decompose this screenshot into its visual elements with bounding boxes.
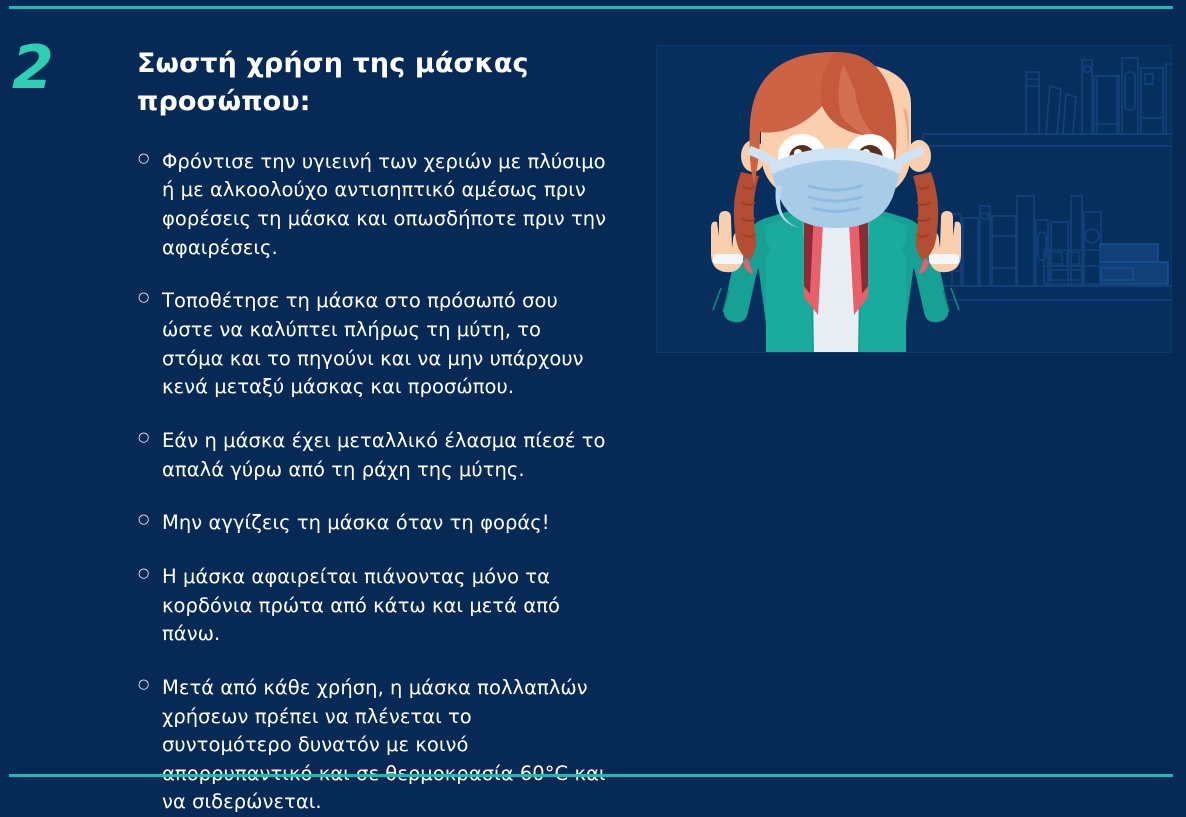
list-item-text: Εάν η μάσκα έχει μεταλλικό έλασμα πίεσέ … <box>162 429 605 481</box>
bottom-accent-rule <box>9 774 1173 777</box>
list-item: ○ Τοποθέτησε τη μάσκα στο πρόσωπό σου ώσ… <box>137 287 607 402</box>
girl-wearing-face-mask-illustration <box>657 46 1172 353</box>
list-item: ○ Η μάσκα αφαιρείται πιάνοντας μόνο τα κ… <box>137 563 607 649</box>
list-item: ○ Εάν η μάσκα έχει μεταλλικό έλασμα πίεσ… <box>137 427 607 484</box>
list-item-text: Μην αγγίζεις τη μάσκα όταν τη φοράς! <box>162 511 550 534</box>
text-column: Σωστή χρήση της μάσκας προσώπου: ○ Φρόντ… <box>137 45 607 817</box>
bullet-circle-icon: ○ <box>138 287 149 308</box>
list-item-text: Μετά από κάθε χρήση, η μάσκα πολλαπλών χ… <box>162 676 606 814</box>
step-number: 2 <box>12 38 53 98</box>
bullet-circle-icon: ○ <box>138 148 149 169</box>
list-item-text: Τοποθέτησε τη μάσκα στο πρόσωπό σου ώστε… <box>162 289 584 398</box>
top-accent-rule <box>9 6 1173 9</box>
list-item: ○ Φρόντισε την υγιεινή των χεριών με πλύ… <box>137 148 607 263</box>
instruction-list: ○ Φρόντισε την υγιεινή των χεριών με πλύ… <box>137 148 607 817</box>
page-title: Σωστή χρήση της μάσκας προσώπου: <box>137 45 607 122</box>
list-item-text: Φρόντισε την υγιεινή των χεριών με πλύσι… <box>162 150 606 259</box>
bullet-circle-icon: ○ <box>138 427 149 448</box>
bullet-circle-icon: ○ <box>138 674 149 695</box>
slide-root: 2 Σωστή χρήση της μάσκας προσώπου: ○ Φρό… <box>0 0 1186 785</box>
bullet-circle-icon: ○ <box>138 563 149 584</box>
list-item: ○ Μετά από κάθε χρήση, η μάσκα πολλαπλών… <box>137 674 607 817</box>
list-item-text: Η μάσκα αφαιρείται πιάνοντας μόνο τα κορ… <box>162 565 560 645</box>
list-item: ○ Μην αγγίζεις τη μάσκα όταν τη φοράς! <box>137 509 607 538</box>
illustration-panel <box>656 45 1172 353</box>
bullet-circle-icon: ○ <box>138 509 149 530</box>
